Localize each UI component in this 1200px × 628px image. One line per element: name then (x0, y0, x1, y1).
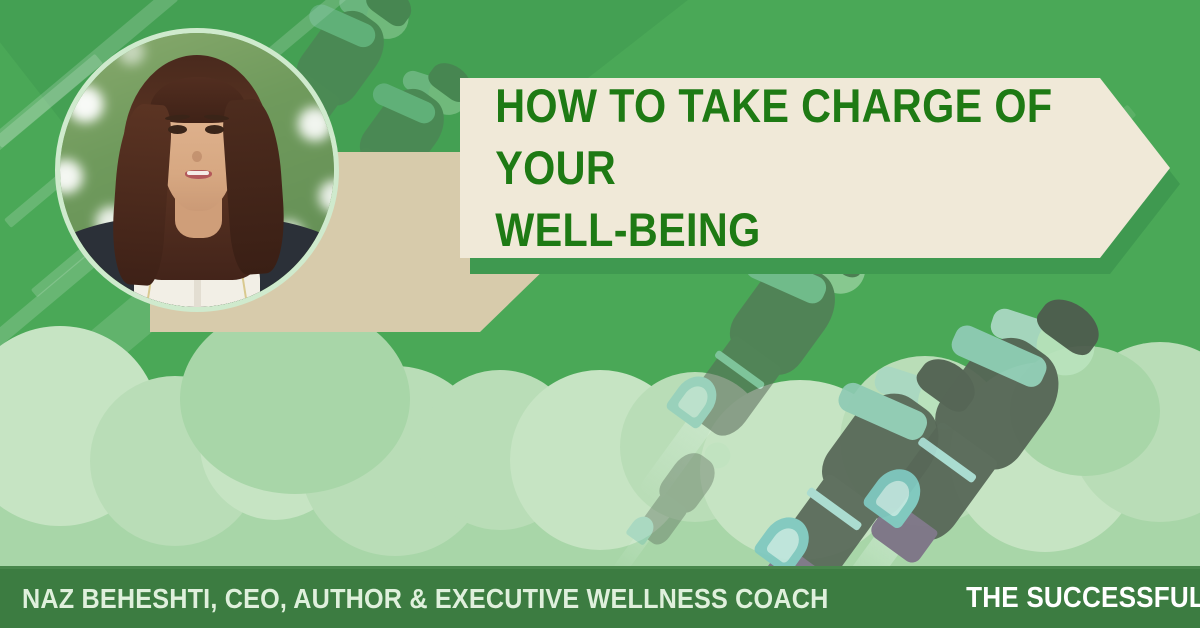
footer-bar: Naz Beheshti, CEO, Author & Executive We… (0, 566, 1200, 628)
page-title: How to Take Charge of Your Well-Being (460, 75, 1085, 261)
show-name-label: The Successful Bookkeeper (966, 582, 1200, 615)
cloud (180, 304, 410, 494)
guest-name-label: Naz Beheshti, CEO, Author & Executive We… (22, 583, 828, 615)
photo-eye-left (168, 125, 187, 134)
guest-avatar (55, 28, 339, 312)
photo-eye-right (205, 125, 224, 134)
episode-cover-canvas: How to Take Charge of Your Well-Being (0, 0, 1200, 628)
photo-nose (192, 151, 202, 162)
guest-photo (60, 33, 334, 307)
photo-teeth (187, 171, 209, 175)
title-banner: How to Take Charge of Your Well-Being (460, 78, 1170, 258)
